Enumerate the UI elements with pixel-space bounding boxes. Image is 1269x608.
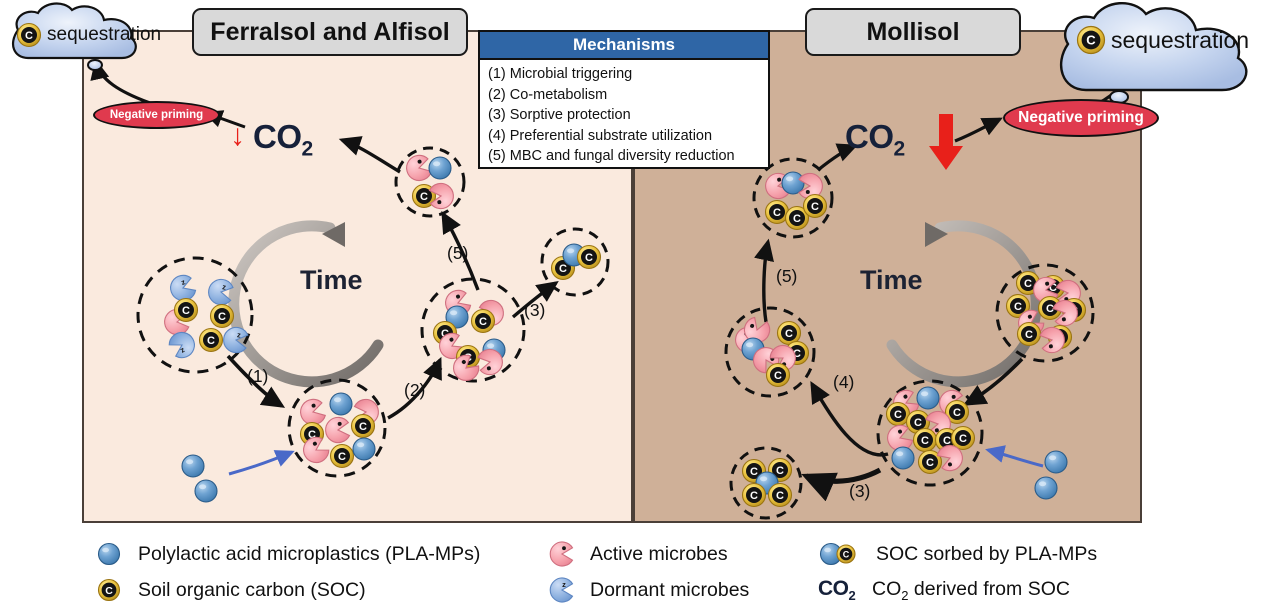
panel-title-left-text: Ferralsol and Alfisol [210,18,449,47]
mechanisms-list: (1) Microbial triggering (2) Co-metaboli… [480,60,768,167]
svg-text:z: z [562,580,566,589]
step-label-left-2: (2) [404,380,425,401]
cloud-left-label: sequestration [47,24,161,46]
legend-item-soc: C Soil organic carbon (SOC) [96,577,366,603]
legend-item-soc-sorbed: C SOC sorbed by PLA-MPs [818,541,1097,567]
co2-right-text: CO [845,118,894,155]
legend: Polylactic acid microplastics (PLA-MPs) … [0,527,1269,606]
legend-label-soc: Soil organic carbon (SOC) [138,579,366,602]
legend-label-soc-sorbed: SOC sorbed by PLA-MPs [876,543,1097,566]
svg-text:C: C [105,585,113,597]
co2-label-right: CO2 [845,118,905,162]
step-label-left-1: (1) [247,366,268,387]
legend-label-pla-mps: Polylactic acid microplastics (PLA-MPs) [138,543,480,566]
negative-priming-right-label: Negative priming [1018,109,1144,127]
legend-item-pla-mps: Polylactic acid microplastics (PLA-MPs) [96,541,480,567]
step-label-left-3: (3) [524,300,545,321]
active-microbe-icon [548,541,578,567]
step-label-right-5: (5) [776,266,797,287]
negative-priming-right: Negative priming [1003,99,1159,137]
legend-item-dormant-microbes: z Dormant microbes [548,577,749,603]
cloud-left-content: C sequestration [16,22,161,48]
co2-right-sub: 2 [894,138,905,161]
cloud-right-content: C sequestration [1076,25,1249,55]
soc-carbon-coin-icon: C [1076,25,1106,55]
step-label-right-3: (3) [849,481,870,502]
soc-carbon-coin-icon: C [16,22,42,48]
negative-priming-left-label: Negative priming [110,109,203,121]
svg-text:C: C [1086,33,1096,48]
mechanisms-header: Mechanisms [480,32,768,60]
step-label-left-5: (5) [447,243,468,264]
dormant-microbe-icon: z [548,577,578,603]
panel-title-mollisol: Mollisol [805,8,1021,56]
co2-left-text: CO [253,118,302,155]
co2-label-left: CO2 [253,118,313,162]
svg-text:C: C [843,550,850,560]
negative-priming-left: Negative priming [93,101,220,129]
mechanism-item-3: (3) Sorptive protection [488,105,768,126]
svg-text:C: C [25,30,33,42]
panel-title-ferralsol-alfisol: Ferralsol and Alfisol [192,8,468,56]
co2-left-sub: 2 [302,138,313,161]
co2-decrease-arrow-right [928,112,968,174]
panel-title-right-text: Mollisol [866,18,959,47]
cloud-right-label: sequestration [1111,27,1249,54]
co2-glyph-text: CO [818,577,849,600]
pla-mp-sphere-icon [96,541,126,567]
step-label-right-4: (4) [833,372,854,393]
legend-item-active-microbes: Active microbes [548,541,728,567]
mechanism-item-1: (1) Microbial triggering [488,64,768,85]
mechanism-item-2: (2) Co-metabolism [488,85,768,106]
co2-decrease-arrow-left: ↓ [230,121,245,151]
soc-carbon-coin-icon: C [96,577,126,603]
mechanism-item-5: (5) MBC and fungal diversity reduction [488,146,768,167]
soc-sorbed-pla-mp-icon: C [818,541,864,567]
mechanisms-box: Mechanisms (1) Microbial triggering (2) … [478,30,770,169]
legend-label-dormant-microbes: Dormant microbes [590,579,749,602]
legend-item-co2-from-soc: CO2 CO2 derived from SOC [818,577,1070,603]
co2-glyph-sub: 2 [849,588,856,603]
co2-from-soc-icon: CO2 [818,577,864,603]
time-label-right: Time [860,265,923,296]
legend-label-active-microbes: Active microbes [590,543,728,566]
time-label-left: Time [300,265,363,296]
legend-label-co2-from-soc: CO2 derived from SOC [872,578,1070,603]
mechanism-item-4: (4) Preferential substrate utilization [488,126,768,147]
